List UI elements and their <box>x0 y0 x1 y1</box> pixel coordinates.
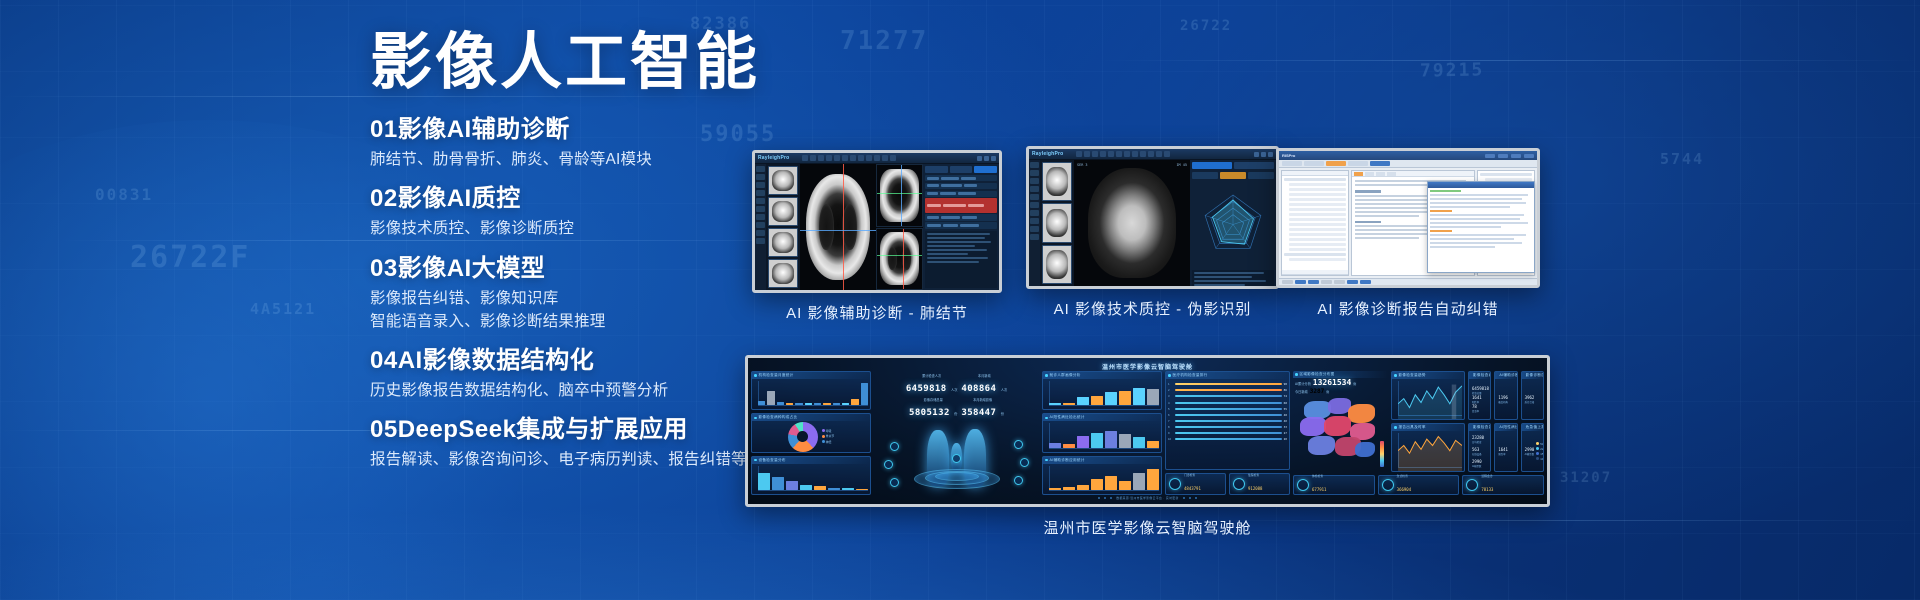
qc-viewer-app: RayleighPro <box>1029 149 1276 286</box>
dashboard-column-bars: 就诊人群画像分析 <box>1042 371 1162 495</box>
popup-body[interactable] <box>1428 188 1534 272</box>
ranking-row[interactable]: 468 <box>1168 400 1287 405</box>
tab[interactable] <box>1282 161 1302 166</box>
screenshot-frame: RayleighPro <box>752 150 1002 293</box>
dashboard-header: 温州市医学影像云智脑驾驶舱 <box>751 361 1544 371</box>
kpi-ai-today: 3287 <box>1310 388 1324 395</box>
tab[interactable] <box>1304 161 1324 166</box>
page-title: 影像人工智能 <box>370 30 830 95</box>
map-region[interactable] <box>1324 416 1351 436</box>
kpi-value: 5805132 <box>909 408 950 418</box>
panel-body: 呼吸 骨关节 神经 <box>752 421 870 451</box>
feature-desc-line: 历史影像报告数据结构化、脑卒中预警分析 <box>370 382 668 399</box>
ct-sagittal-view[interactable] <box>876 228 923 291</box>
series-thumb[interactable] <box>768 166 798 195</box>
stat-icon <box>1233 478 1245 490</box>
panel-dot-icon <box>1045 417 1048 420</box>
finding-row[interactable] <box>925 183 997 189</box>
orbit-icon[interactable] <box>890 478 899 487</box>
screenshot-report-correction[interactable]: RISPro <box>1276 148 1540 288</box>
orbit-icon[interactable] <box>884 460 893 469</box>
feature-desc-line: 肺结节、肋骨骨折、肺炎、骨龄等AI模块 <box>370 151 652 168</box>
panel-title: AI辅助诊断应用统计 <box>1050 458 1085 463</box>
panel-dot-icon <box>1045 459 1048 462</box>
panel-title: 区域影像检查分布图 <box>1300 372 1335 377</box>
ct-sagittal-image <box>880 232 919 285</box>
banner-root: 82386 71277 59055 26722F 26722 79215 4A5… <box>0 0 1920 600</box>
panel-title: AI阳性病灶检出统计 <box>1499 425 1517 430</box>
tab-active[interactable] <box>1326 161 1346 166</box>
stat-icon <box>1382 479 1394 491</box>
stat-icon <box>1297 479 1309 491</box>
panel-population[interactable]: 就诊人群画像分析 <box>1042 371 1162 410</box>
panel-body: AI累计分析 13261534 例 今日新增 3287 例 <box>1293 378 1388 472</box>
series-thumbnail-list[interactable] <box>766 164 800 290</box>
region-map[interactable] <box>1295 397 1386 469</box>
panel-body <box>1043 379 1161 409</box>
chart-legend: 53% 22% 15% 10% <box>1536 442 1544 461</box>
finding-row[interactable] <box>925 214 997 220</box>
kpi-monthly-new: 本月新增 408864 人次 <box>961 373 1007 396</box>
mini-kpi-list: 1196覆盖机构 <box>1497 381 1514 417</box>
app-logo: RISPro <box>1282 153 1295 158</box>
crosshair-horizontal <box>800 230 876 231</box>
stat-card-teleconsult[interactable]: 远程会诊 78133 <box>1462 475 1544 495</box>
orbit-icon[interactable] <box>1020 458 1029 467</box>
panel-body: 1196覆盖机构 <box>1495 379 1516 419</box>
ranking-row[interactable]: 198 <box>1168 382 1287 387</box>
ranking-row[interactable]: 286 <box>1168 388 1287 393</box>
panel-trend-exam[interactable]: 影像检查量趋势 <box>1391 371 1465 420</box>
bar-chart <box>1049 382 1159 405</box>
mini-kpi-list: 3962质控合格 <box>1524 381 1541 417</box>
panel-body <box>1043 464 1161 494</box>
stat-card-physical[interactable]: 体检检查 677911 <box>1293 475 1375 495</box>
panel-header: 影像检查量趋势 <box>1392 372 1464 379</box>
ct-axial-image <box>806 174 870 280</box>
tool-rail[interactable] <box>1029 160 1040 286</box>
screenshot-frame: RISPro <box>1276 148 1540 288</box>
screenshot-ai-qc[interactable]: RayleighPro <box>1026 146 1279 289</box>
app-logo: RayleighPro <box>758 155 789 161</box>
dashboard-column-ranking: 医疗机构检查量排行 198 286 374 468 555 648 <box>1165 371 1290 495</box>
panel-header: 就诊人群画像分析 <box>1043 372 1161 379</box>
kpi-value: 408864 <box>961 384 996 394</box>
dashboard-title: 温州市医学影像云智脑驾驶舱 <box>1102 362 1193 371</box>
qc-panel[interactable] <box>1190 160 1276 286</box>
kpi-value: 6459818 <box>906 384 947 394</box>
action-button[interactable] <box>1321 280 1332 284</box>
action-button[interactable] <box>1334 280 1345 284</box>
panel-title: 机构检查量月度统计 <box>759 373 794 378</box>
panel-ai-bars[interactable]: AI辅助诊断应用统计 1196覆盖机构 <box>1494 371 1517 420</box>
background-digits: 82386 71277 59055 26722F 26722 79215 4A5… <box>0 0 1920 600</box>
panel-dot-icon <box>754 374 757 377</box>
series-thumb[interactable] <box>768 259 798 288</box>
patient-list-pane[interactable] <box>1281 170 1349 276</box>
panel-dot-icon <box>1394 426 1397 429</box>
app-titlebar: RayleighPro <box>755 153 999 164</box>
action-bar[interactable] <box>1279 278 1537 285</box>
panel-title: 影像检查量趋势 <box>1399 373 1426 378</box>
screenshot-frame: 温州市医学影像云智脑驾驶舱 机构检查量月度统计 <box>745 355 1550 507</box>
crosshair-vertical <box>901 165 902 226</box>
bar-chart <box>758 467 868 490</box>
stat-icon <box>1466 479 1478 491</box>
chart-legend: 呼吸 骨关节 神经 <box>822 429 834 444</box>
hologram-ring <box>935 472 979 481</box>
ranking-row[interactable]: 374 <box>1168 394 1287 399</box>
panel-title: 影像诊断质控指标 <box>1526 373 1544 378</box>
crosshair-vertical <box>843 164 844 290</box>
window-controls[interactable] <box>1254 152 1273 157</box>
radar-svg <box>1192 181 1274 268</box>
action-button[interactable] <box>1308 280 1319 284</box>
stat-icon <box>1169 478 1181 490</box>
kpi-total-exams: 累计检查人次 6459818 人次 <box>906 373 958 396</box>
panel-dot-icon <box>1295 373 1298 376</box>
panel-ai-apply[interactable]: AI辅助诊断应用统计 <box>1042 456 1162 495</box>
panel-header: 机构检查量月度统计 <box>752 372 870 379</box>
screenshot-caption: AI 影像辅助诊断 - 肺结节 <box>752 302 1002 323</box>
panel-title: 危急值上报统计 <box>1526 425 1544 430</box>
stat-card-outpatient[interactable]: 门诊检查 4843791 <box>1165 473 1226 495</box>
crosshair-horizontal <box>877 255 922 256</box>
ranking-row[interactable]: 648 <box>1168 412 1287 417</box>
dashboard-app: 温州市医学影像云智脑驾驶舱 机构检查量月度统计 <box>748 358 1547 504</box>
qc-result-list[interactable] <box>1192 270 1274 289</box>
series-thumb[interactable] <box>768 228 798 257</box>
ranking-row[interactable]: 740 <box>1168 419 1287 424</box>
panel-title: 设备检查量分布 <box>759 458 786 463</box>
map-region[interactable] <box>1308 436 1335 455</box>
panel-body: 3962质控合格 <box>1522 379 1543 419</box>
map-legend-scale <box>1380 441 1384 467</box>
screenshot-caption: AI 影像诊断报告自动纠错 <box>1276 298 1540 319</box>
panel-header: 报告出具及时率 <box>1392 424 1464 431</box>
crosshair-vertical <box>903 229 904 290</box>
action-button[interactable] <box>1282 280 1293 284</box>
tab[interactable] <box>1370 161 1390 166</box>
mini-kpi-list: 1641阳性率 <box>1497 433 1514 469</box>
panel-title: 医疗机构检查量排行 <box>1173 373 1208 378</box>
panel-body: 2990AI模型数 53% 22% 15% 10% <box>1522 431 1543 471</box>
series-thumb[interactable] <box>1042 162 1072 201</box>
panel-org-ranking[interactable]: 医疗机构检查量排行 198 286 374 468 555 648 <box>1165 371 1290 470</box>
ct-axial-view[interactable] <box>800 164 876 290</box>
screenshot-ai-diagnosis[interactable]: RayleighPro <box>752 150 1002 293</box>
kpi-ai-total: 13261534 <box>1313 378 1352 387</box>
kpi-strip-row2: 影像存储总量 5805132 份 本月新增影像 358447 份 <box>874 396 1039 420</box>
map-region[interactable] <box>1355 442 1375 458</box>
patient-tree[interactable] <box>1282 176 1348 270</box>
feature-title: 01影像AI辅助诊断 <box>370 115 830 145</box>
app-titlebar: RISPro <box>1279 151 1537 160</box>
window-controls[interactable] <box>977 156 996 161</box>
dashboard-column-hero: 累计检查人次 6459818 人次 本月新增 408864 人次 <box>874 371 1039 495</box>
panel-header: 影像检查病种构成占比 <box>752 414 870 421</box>
panel-critical-donut[interactable]: 危急值上报统计 2990AI模型数 53% <box>1521 423 1544 472</box>
kpi-monthly-images: 本月新增影像 358447 份 <box>961 397 1004 420</box>
series-thumb[interactable] <box>1042 245 1072 284</box>
kpi-value: 358447 <box>961 408 996 418</box>
feature-desc-line: 报告解读、影像咨询问诊、电子病历判读、报告纠错等 <box>370 451 747 468</box>
panel-exam-pie[interactable]: 影像检查病种构成占比 6459818检查总量 1641阳性率 78复查率 <box>1468 371 1491 420</box>
ranking-row[interactable]: 555 <box>1168 406 1287 411</box>
findings-panel[interactable] <box>923 164 999 290</box>
bar-chart <box>1049 467 1159 490</box>
donut-chart <box>788 422 818 452</box>
panel-header: 影像检查量趋势 <box>1469 424 1490 431</box>
finding-row[interactable] <box>925 175 997 181</box>
panel-positive-detect[interactable]: AI阳性病灶检出统计 <box>1042 413 1162 452</box>
panel-body <box>752 379 870 409</box>
crosshair-horizontal <box>877 193 922 194</box>
panel-title: AI阳性病灶检出统计 <box>1050 415 1085 420</box>
panel-title: 就诊人群画像分析 <box>1050 373 1081 378</box>
dashboard-column-map: 区域影像检查分布图 AI累计分析 13261534 例 <box>1293 371 1544 495</box>
background-streak <box>1100 60 1920 61</box>
hologram-visualization <box>874 420 1039 495</box>
panel-title: 影像检查量趋势 <box>1473 425 1491 430</box>
ct-chest-image <box>1088 168 1176 279</box>
kpi-strip-row1: 累计检查人次 6459818 人次 本月新增 408864 人次 <box>874 371 1039 396</box>
panel-dot-icon <box>754 417 757 420</box>
ranking-row[interactable]: 927 <box>1168 431 1287 436</box>
dashboard-footer: 数据来源:温州市医学影像云平台 · 实时更新 <box>751 495 1544 501</box>
dashboard-column-left: 机构检查量月度统计 <box>751 371 871 495</box>
app-logo: RayleighPro <box>1032 151 1063 157</box>
panel-title: AI辅助诊断应用统计 <box>1499 373 1517 378</box>
image-info-label: SER 3 <box>1077 163 1088 167</box>
tab-bar[interactable] <box>1279 160 1537 168</box>
qc-subtabs[interactable] <box>1192 172 1274 179</box>
panel-qc-bars[interactable]: 影像诊断质控指标 3962质控合格 <box>1521 371 1544 420</box>
panel-disease-share[interactable]: 影像检查病种构成占比 呼吸 骨关节 神经 <box>751 413 871 452</box>
image-info-label: IM 45 <box>1176 163 1187 167</box>
finding-row-alert[interactable] <box>925 198 997 212</box>
panel-title: 报告出具及时率 <box>1399 425 1426 430</box>
orbit-icon-center[interactable] <box>952 454 961 463</box>
orbit-icon[interactable] <box>1014 476 1023 485</box>
stat-card-row-bottom: 体检检查 677911 急诊检查 366904 <box>1293 475 1544 495</box>
panel-header: AI阳性病灶检出统计 <box>1495 424 1516 431</box>
map-region[interactable] <box>1300 417 1325 436</box>
mini-kpi-list: 23280日均检查 563在线设备 2990AI模型数 <box>1471 433 1488 469</box>
series-thumbnail-list[interactable] <box>1040 160 1074 286</box>
screenshot-cloud-dashboard[interactable]: 温州市医学影像云智脑驾驶舱 机构检查量月度统计 <box>745 355 1550 507</box>
panel-body: 23280日均检查 563在线设备 2990AI模型数 <box>1469 431 1490 471</box>
panel-header: AI阳性病灶检出统计 <box>1043 414 1161 421</box>
dashboard-footer-text: 数据来源:温州市医学影像云平台 · 实时更新 <box>1116 496 1178 500</box>
series-thumb[interactable] <box>768 197 798 226</box>
ranking-list[interactable]: 198 286 374 468 555 648 740 833 927 10 <box>1168 381 1287 441</box>
tool-rail[interactable] <box>755 164 766 290</box>
toolbar[interactable] <box>1076 151 1251 157</box>
panel-header: 区域影像检查分布图 <box>1293 371 1388 378</box>
panel-header: AI辅助诊断应用统计 <box>1043 457 1161 464</box>
ai-correction-popup[interactable] <box>1427 181 1535 273</box>
ranking-row[interactable]: 1020 <box>1168 437 1287 442</box>
qc-tabs[interactable] <box>1192 162 1274 169</box>
panel-body <box>1392 379 1464 419</box>
action-button[interactable] <box>1360 280 1371 284</box>
panel-body <box>752 464 870 494</box>
bar-chart <box>1049 424 1159 447</box>
ct-viewer-app: RayleighPro <box>755 153 999 290</box>
line-chart <box>1398 382 1462 420</box>
panel-dot-icon <box>1045 374 1048 377</box>
qc-radar-chart <box>1192 181 1274 268</box>
report-app: RISPro <box>1279 151 1537 285</box>
panel-device-dist[interactable]: 设备检查量分布 <box>751 456 871 495</box>
screenshot-frame: RayleighPro <box>1026 146 1279 289</box>
panel-checkvolume[interactable]: 机构检查量月度统计 <box>751 371 871 410</box>
orbit-icon[interactable] <box>1014 440 1023 449</box>
panel-header: 影像检查病种构成占比 <box>1469 372 1490 379</box>
stat-card-emergency[interactable]: 急诊检查 366904 <box>1378 475 1460 495</box>
panel-header: 危急值上报统计 <box>1522 424 1543 431</box>
panel-header: 影像诊断质控指标 <box>1522 372 1543 379</box>
panel-ai-kpi: 区域影像检查分布图 AI累计分析 13261534 例 <box>1293 371 1388 472</box>
report-text-area[interactable] <box>925 231 997 289</box>
ranking-row[interactable]: 833 <box>1168 425 1287 430</box>
findings-list[interactable] <box>925 175 997 229</box>
panel-body: 198 286 374 468 555 648 740 833 927 10 <box>1166 379 1289 469</box>
panel-report-timeliness[interactable]: 报告出具及时率 <box>1391 423 1465 472</box>
map-region[interactable] <box>1348 404 1375 423</box>
panel-header: 设备检查量分布 <box>752 457 870 464</box>
series-thumb[interactable] <box>1042 203 1072 242</box>
panel-body <box>1043 421 1161 451</box>
toolbar[interactable] <box>802 155 974 161</box>
titlebar-menu[interactable] <box>1485 154 1534 158</box>
finding-row[interactable] <box>925 222 997 228</box>
mini-kpi-list: 2990AI模型数 <box>1524 447 1535 456</box>
ct-coronal-view[interactable] <box>876 164 923 227</box>
panel-header: AI辅助诊断应用统计 <box>1495 372 1516 379</box>
panel-body: 1641阳性率 <box>1495 431 1516 471</box>
ct-chest-view[interactable]: SER 3 IM 45 <box>1074 160 1190 286</box>
panel-buttons[interactable] <box>925 166 997 173</box>
stat-card-row: 门诊检查 4843791 住院检查 912088 <box>1165 473 1290 495</box>
line-chart <box>1398 434 1462 472</box>
action-button[interactable] <box>1295 280 1306 284</box>
bar-chart <box>758 382 868 405</box>
finding-row[interactable] <box>925 191 997 197</box>
panel-title: 影像检查病种构成占比 <box>1473 373 1491 378</box>
panel-title: 影像检查病种构成占比 <box>759 415 798 420</box>
pane-footer <box>1282 270 1348 275</box>
screenshot-caption: AI 影像技术质控 - 伪影识别 <box>1026 298 1279 319</box>
panel-line-daily[interactable]: 影像检查量趋势 23280日均检查 563在线设备 2990AI模型数 <box>1468 423 1491 472</box>
app-titlebar: RayleighPro <box>1029 149 1276 160</box>
panel-header: 医疗机构检查量排行 <box>1166 372 1289 379</box>
panel-body: 6459818检查总量 1641阳性率 78复查率 <box>1469 379 1490 419</box>
panel-dot-icon <box>754 459 757 462</box>
panel-dot-icon <box>1168 374 1171 377</box>
kpi-image-storage: 影像存储总量 5805132 份 <box>909 397 957 420</box>
screenshot-caption: 温州市医学影像云智脑驾驶舱 <box>745 517 1550 538</box>
panel-orange-bars[interactable]: AI阳性病灶检出统计 1641阳性率 <box>1494 423 1517 472</box>
mini-kpi-list: 6459818检查总量 1641阳性率 78复查率 <box>1471 386 1489 413</box>
panel-dot-icon <box>1394 374 1397 377</box>
feature-desc-line: 影像技术质控、影像诊断质控 <box>370 220 574 237</box>
orbit-icon[interactable] <box>890 442 899 451</box>
action-button[interactable] <box>1347 280 1358 284</box>
stat-card-inpatient[interactable]: 住院检查 912088 <box>1229 473 1290 495</box>
panel-body <box>1392 431 1464 471</box>
tab[interactable] <box>1348 161 1368 166</box>
